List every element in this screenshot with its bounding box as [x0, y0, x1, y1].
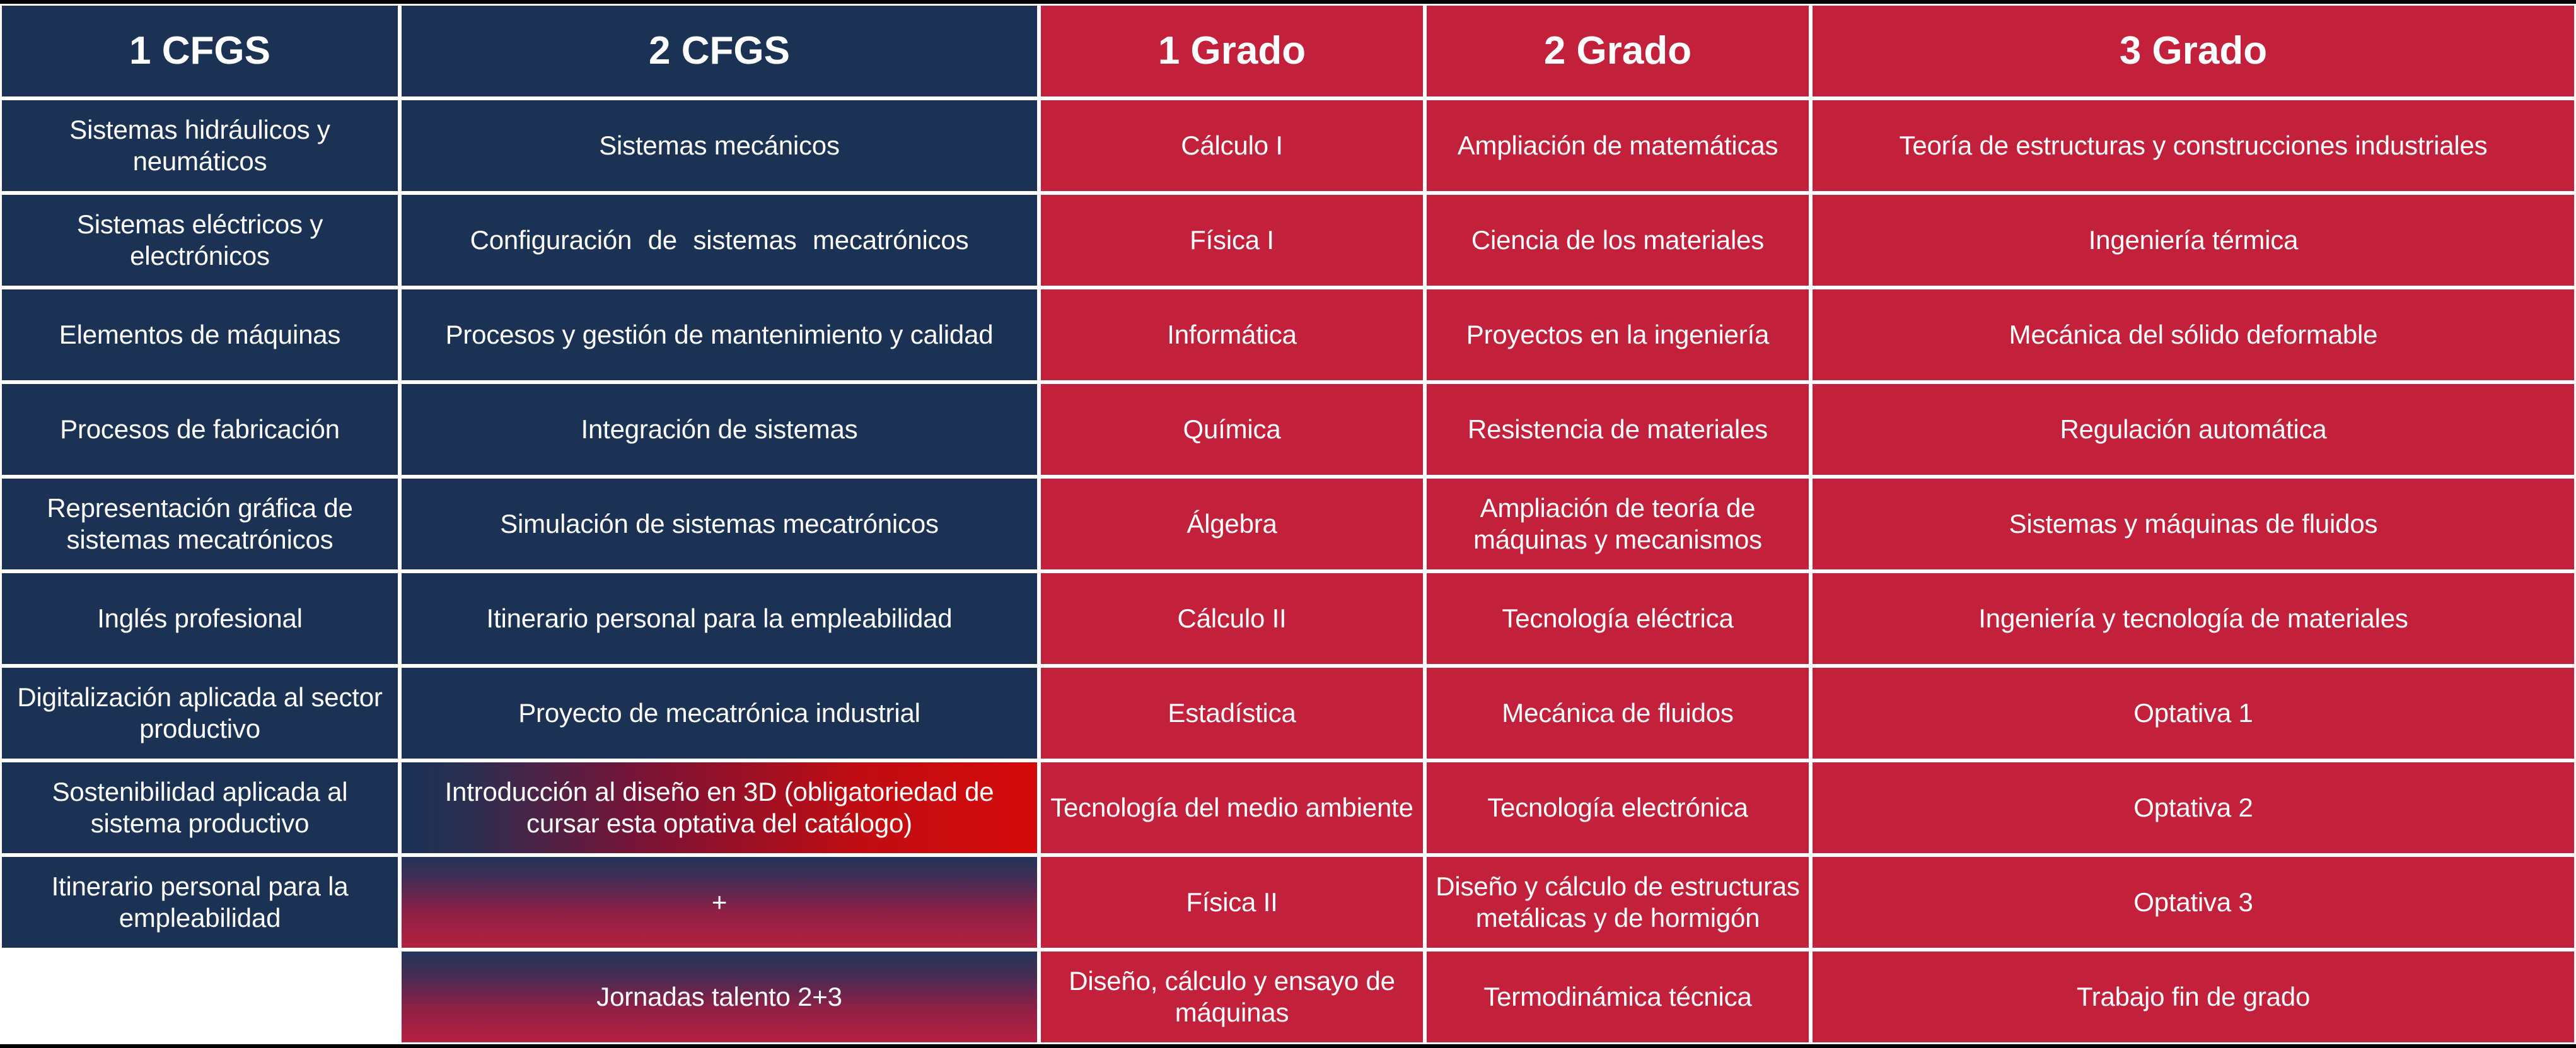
table-cell: Proyecto de mecatrónica industrial	[400, 666, 1039, 760]
table-cell: Simulación de sistemas mecatrónicos	[400, 477, 1039, 571]
column-header-2-grado: 2 Grado	[1425, 4, 1811, 98]
table-cell: Optativa 2	[1811, 760, 2576, 855]
table-cell: Trabajo fin de grado	[1811, 950, 2576, 1044]
column-header-3-grado: 3 Grado	[1811, 4, 2576, 98]
table-cell: Resistencia de materiales	[1425, 382, 1811, 477]
table-cell: Ingeniería y tecnología de materiales	[1811, 571, 2576, 666]
table-cell: Ciencia de los materiales	[1425, 193, 1811, 288]
table-cell: Optativa 3	[1811, 855, 2576, 950]
table-cell: Sistemas eléctricos y electrónicos	[0, 193, 400, 288]
table-cell: Elementos de máquinas	[0, 288, 400, 382]
table-cell: Sostenibilidad aplicada al sistema produ…	[0, 760, 400, 855]
table-cell: Inglés profesional	[0, 571, 400, 666]
table-cell: Procesos de fabricación	[0, 382, 400, 477]
table-cell: Tecnología del medio ambiente	[1039, 760, 1425, 855]
column-header-2-cfgs: 2 CFGS	[400, 4, 1039, 98]
table-cell: Cálculo I	[1039, 98, 1425, 193]
table-cell: Diseño y cálculo de estructuras metálica…	[1425, 855, 1811, 950]
table-cell: Configuración de sistemas mecatrónicos	[400, 193, 1039, 288]
table-cell: Digitalización aplicada al sector produc…	[0, 666, 400, 760]
table-cell: Tecnología electrónica	[1425, 760, 1811, 855]
table-cell-optativa-3d: Introducción al diseño en 3D (obligatori…	[400, 760, 1039, 855]
table-cell: Álgebra	[1039, 477, 1425, 571]
table-cell: Integración de sistemas	[400, 382, 1039, 477]
table-cell: Mecánica de fluidos	[1425, 666, 1811, 760]
table-cell: Ingeniería térmica	[1811, 193, 2576, 288]
table-cell: Tecnología eléctrica	[1425, 571, 1811, 666]
table-cell: Sistemas y máquinas de fluidos	[1811, 477, 2576, 571]
table-cell-plus-connector: +	[400, 855, 1039, 950]
table-grid: 1 CFGS 2 CFGS 1 Grado 2 Grado 3 Grado Si…	[0, 4, 2576, 1044]
table-cell-jornadas-talento: Jornadas talento 2+3	[400, 950, 1039, 1044]
table-cell: Sistemas mecánicos	[400, 98, 1039, 193]
table-cell: Mecánica del sólido deformable	[1811, 288, 2576, 382]
table-cell: Informática	[1039, 288, 1425, 382]
table-cell: Física I	[1039, 193, 1425, 288]
table-cell: Química	[1039, 382, 1425, 477]
table-cell: Teoría de estructuras y construcciones i…	[1811, 98, 2576, 193]
column-header-1-cfgs: 1 CFGS	[0, 4, 400, 98]
table-cell: Itinerario personal para la empleabilida…	[400, 571, 1039, 666]
table-cell: Regulación automática	[1811, 382, 2576, 477]
table-cell: Representación gráfica de sistemas mecat…	[0, 477, 400, 571]
table-cell: Itinerario personal para la empleabilida…	[0, 855, 400, 950]
table-cell: Optativa 1	[1811, 666, 2576, 760]
table-cell: Proyectos en la ingeniería	[1425, 288, 1811, 382]
table-cell: Sistemas hidráulicos y neumáticos	[0, 98, 400, 193]
table-cell-empty	[0, 950, 400, 1044]
table-cell: Ampliación de teoría de máquinas y mecan…	[1425, 477, 1811, 571]
table-cell: Procesos y gestión de mantenimiento y ca…	[400, 288, 1039, 382]
table-cell: Termodinámica técnica	[1425, 950, 1811, 1044]
column-header-1-grado: 1 Grado	[1039, 4, 1425, 98]
table-cell: Diseño, cálculo y ensayo de máquinas	[1039, 950, 1425, 1044]
table-cell: Estadística	[1039, 666, 1425, 760]
table-cell: Ampliación de matemáticas	[1425, 98, 1811, 193]
table-cell: Cálculo II	[1039, 571, 1425, 666]
curriculum-table: 1 CFGS 2 CFGS 1 Grado 2 Grado 3 Grado Si…	[0, 0, 2576, 1048]
table-cell: Física II	[1039, 855, 1425, 950]
